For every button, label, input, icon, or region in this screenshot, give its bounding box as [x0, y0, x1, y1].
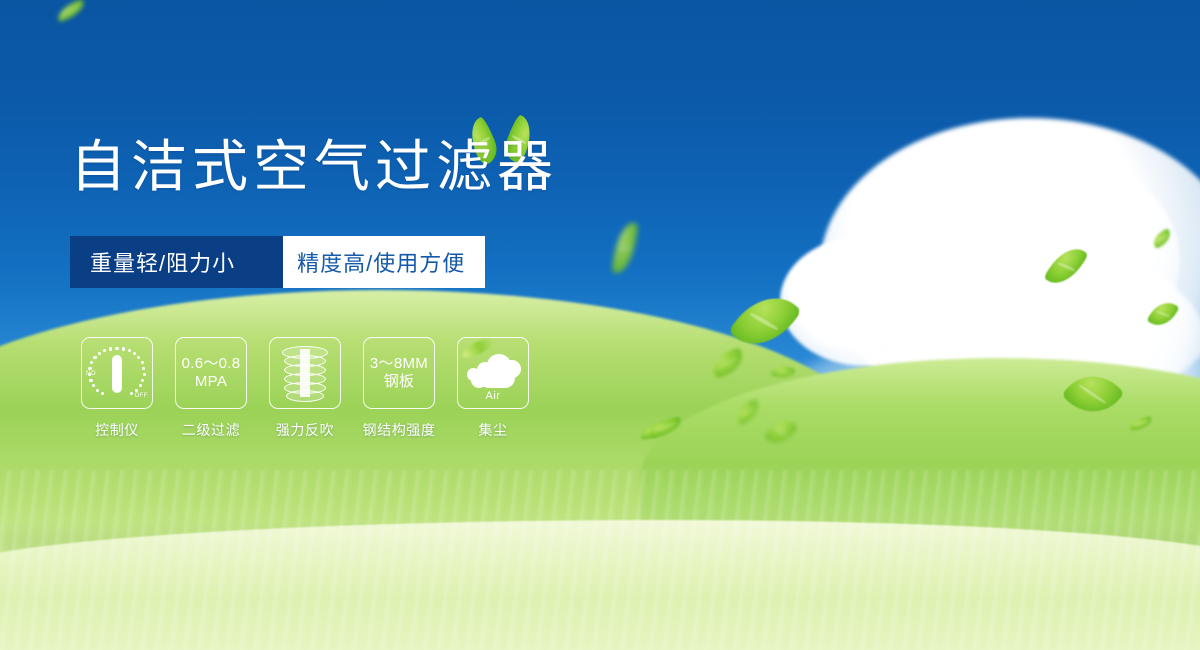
hero-banner: 自洁式空气过滤器 重量轻/阻力小 精度高/使用方便	[0, 0, 1200, 650]
cloud-upper-right-2	[900, 150, 1180, 370]
feature-icon-box: 3～8MM 钢板	[363, 337, 435, 409]
page-title: 自洁式空气过滤器	[70, 140, 558, 196]
pressure-value-icon: 0.6～0.8 MPA	[182, 355, 241, 390]
steel-plate-text: 钢板	[370, 373, 428, 391]
cloud-upper-right-3	[830, 196, 1060, 366]
filter-cartridge-icon	[282, 346, 328, 400]
steel-thickness-text: 3～8MM	[370, 355, 428, 373]
feature-label: 控制仪	[95, 420, 139, 440]
feature-icon-box	[269, 337, 341, 409]
subtitle-divider-slash	[253, 236, 283, 288]
subtitle-right-segment: 精度高/使用方便	[283, 236, 485, 288]
feature-label: 强力反吹	[276, 420, 334, 440]
feature-item-back-blow[interactable]: 强力反吹	[258, 337, 352, 440]
floating-leaf-10	[1150, 228, 1174, 249]
feature-icon-box: Air	[457, 337, 529, 409]
gauge-label-off: OFF	[135, 393, 149, 399]
subtitle-bar: 重量轻/阻力小 精度高/使用方便	[70, 236, 485, 288]
feature-icon-box: NO OFF	[81, 337, 153, 409]
feature-icon-box: 0.6～0.8 MPA	[175, 337, 247, 409]
feature-item-two-stage-filter[interactable]: 0.6～0.8 MPA 二级过滤	[164, 337, 258, 440]
gauge-label-no: NO	[86, 371, 96, 377]
feature-label: 钢结构强度	[363, 420, 436, 440]
pressure-unit-text: MPA	[182, 373, 241, 391]
gauge-dial-icon: NO OFF	[87, 345, 147, 401]
feature-item-steel-strength[interactable]: 3～8MM 钢板 钢结构强度	[352, 337, 446, 440]
floating-leaf-11	[1146, 296, 1179, 331]
air-label: Air	[465, 390, 521, 402]
feature-label: 集尘	[478, 420, 507, 440]
feature-item-dust-collection[interactable]: Air 集尘	[446, 337, 540, 440]
grass-texture-streaks	[0, 470, 1200, 650]
floating-leaf-2	[611, 221, 638, 275]
floating-leaf-1	[55, 0, 88, 23]
air-cloud-icon: Air	[465, 348, 521, 398]
pressure-range-text: 0.6～0.8	[182, 355, 241, 373]
feature-label: 二级过滤	[182, 420, 240, 440]
floating-leaf-9	[1043, 240, 1088, 291]
steel-plate-value-icon: 3～8MM 钢板	[370, 355, 428, 390]
gauge-needle	[112, 355, 122, 393]
subtitle-left-segment: 重量轻/阻力小	[70, 236, 253, 288]
feature-list: NO OFF 控制仪 0.6～0.8 MPA 二级过滤	[70, 337, 540, 440]
feature-item-controller[interactable]: NO OFF 控制仪	[70, 337, 164, 440]
cloud-upper-right-4	[780, 236, 950, 366]
